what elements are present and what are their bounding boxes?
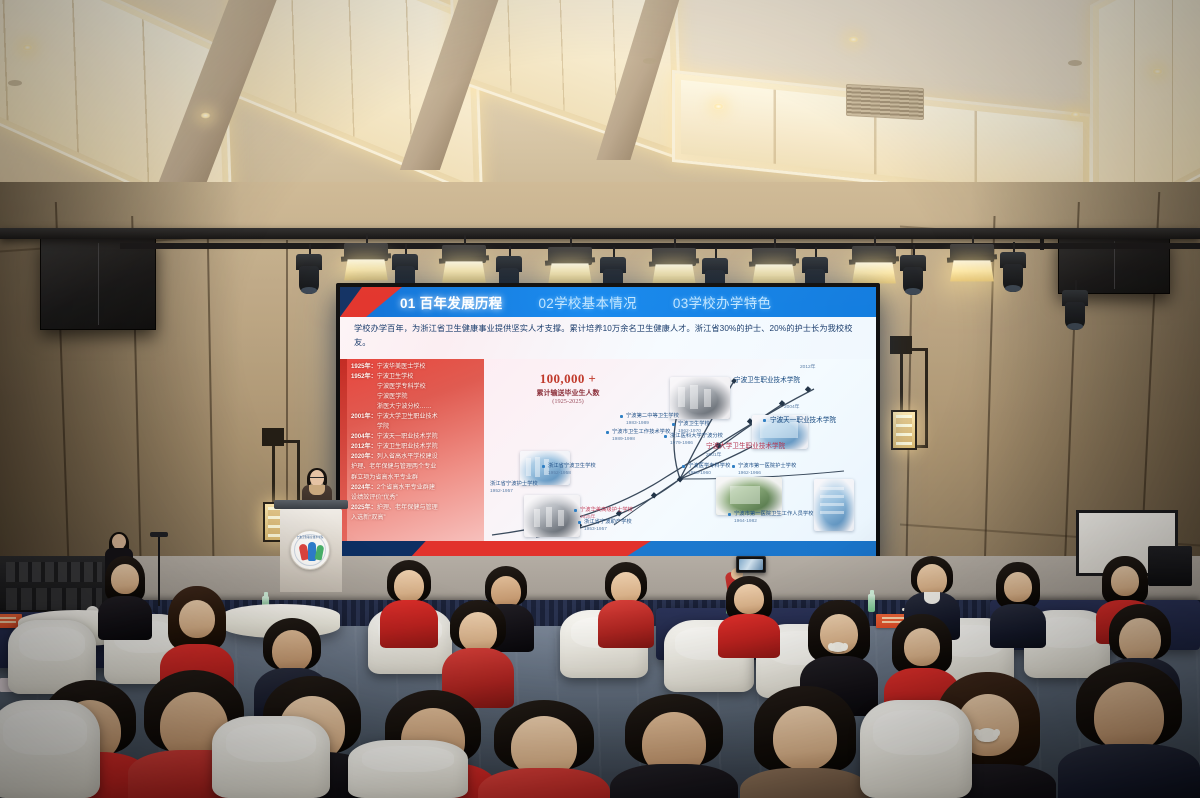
stage-monitor [1148,546,1192,586]
moving-head-light-6 [900,253,926,297]
hanging-speaker-left [40,238,156,330]
chair-front [0,700,100,798]
attendee-front-row [478,700,610,798]
moving-head-light-7 [1000,250,1026,294]
attendee-front-row [740,686,870,798]
ceiling-downlight-4 [1070,111,1081,118]
hair-bow-clip [830,642,846,652]
phone-camera[interactable] [736,556,766,573]
fresnel-light-3 [548,247,592,287]
hair-bow-clip [976,728,998,742]
fresnel-light-4 [652,248,696,288]
ceiling-downlight-5 [1152,68,1163,75]
screen-bezel [336,283,880,573]
ceiling-downlight-6 [200,112,211,119]
moving-head-light-9 [296,252,322,296]
sprinkler-head-3 [1068,60,1082,66]
fresnel-light-2 [442,245,486,285]
attendee-front-row [1058,662,1200,798]
moving-head-light-8 [1062,288,1088,332]
ceiling-downlight-1 [22,44,33,51]
fresnel-light-7 [950,244,994,284]
school-emblem-icon: 宁波卫生职业技术学院 [290,530,330,570]
attendee [442,600,514,704]
attendee [598,562,654,646]
ceiling-air-vent [846,84,924,120]
attendee-with-phone [718,556,780,648]
attendee [990,562,1046,642]
attendee [380,560,438,646]
chair-front [212,716,330,798]
podium: 宁波卫生职业技术学院 [278,500,344,592]
attendee [98,556,152,636]
lighting-truss [0,228,1200,239]
ceiling [0,0,1200,200]
chair-front [348,740,468,798]
fresnel-light-5 [752,248,796,288]
sprinkler-head-2 [643,58,657,64]
wall-sconce-right [900,348,928,448]
fresnel-light-6 [852,246,896,286]
conference-hall-photo: 01 百年发展历程 02学校基本情况 03学校办学特色 学校办学百年，为浙江省卫… [0,0,1200,798]
emblem-text: 宁波卫生职业技术学院 [291,535,329,539]
ceiling-downlight-2 [848,36,859,43]
sprinkler-head-1 [8,80,22,86]
ceiling-coffer-5 [1090,0,1200,200]
fresnel-light-1 [344,243,388,283]
podium-top [274,500,348,509]
ceiling-downlight-3 [713,103,724,110]
attendee-front-row [610,694,738,798]
chair-front [860,700,972,798]
